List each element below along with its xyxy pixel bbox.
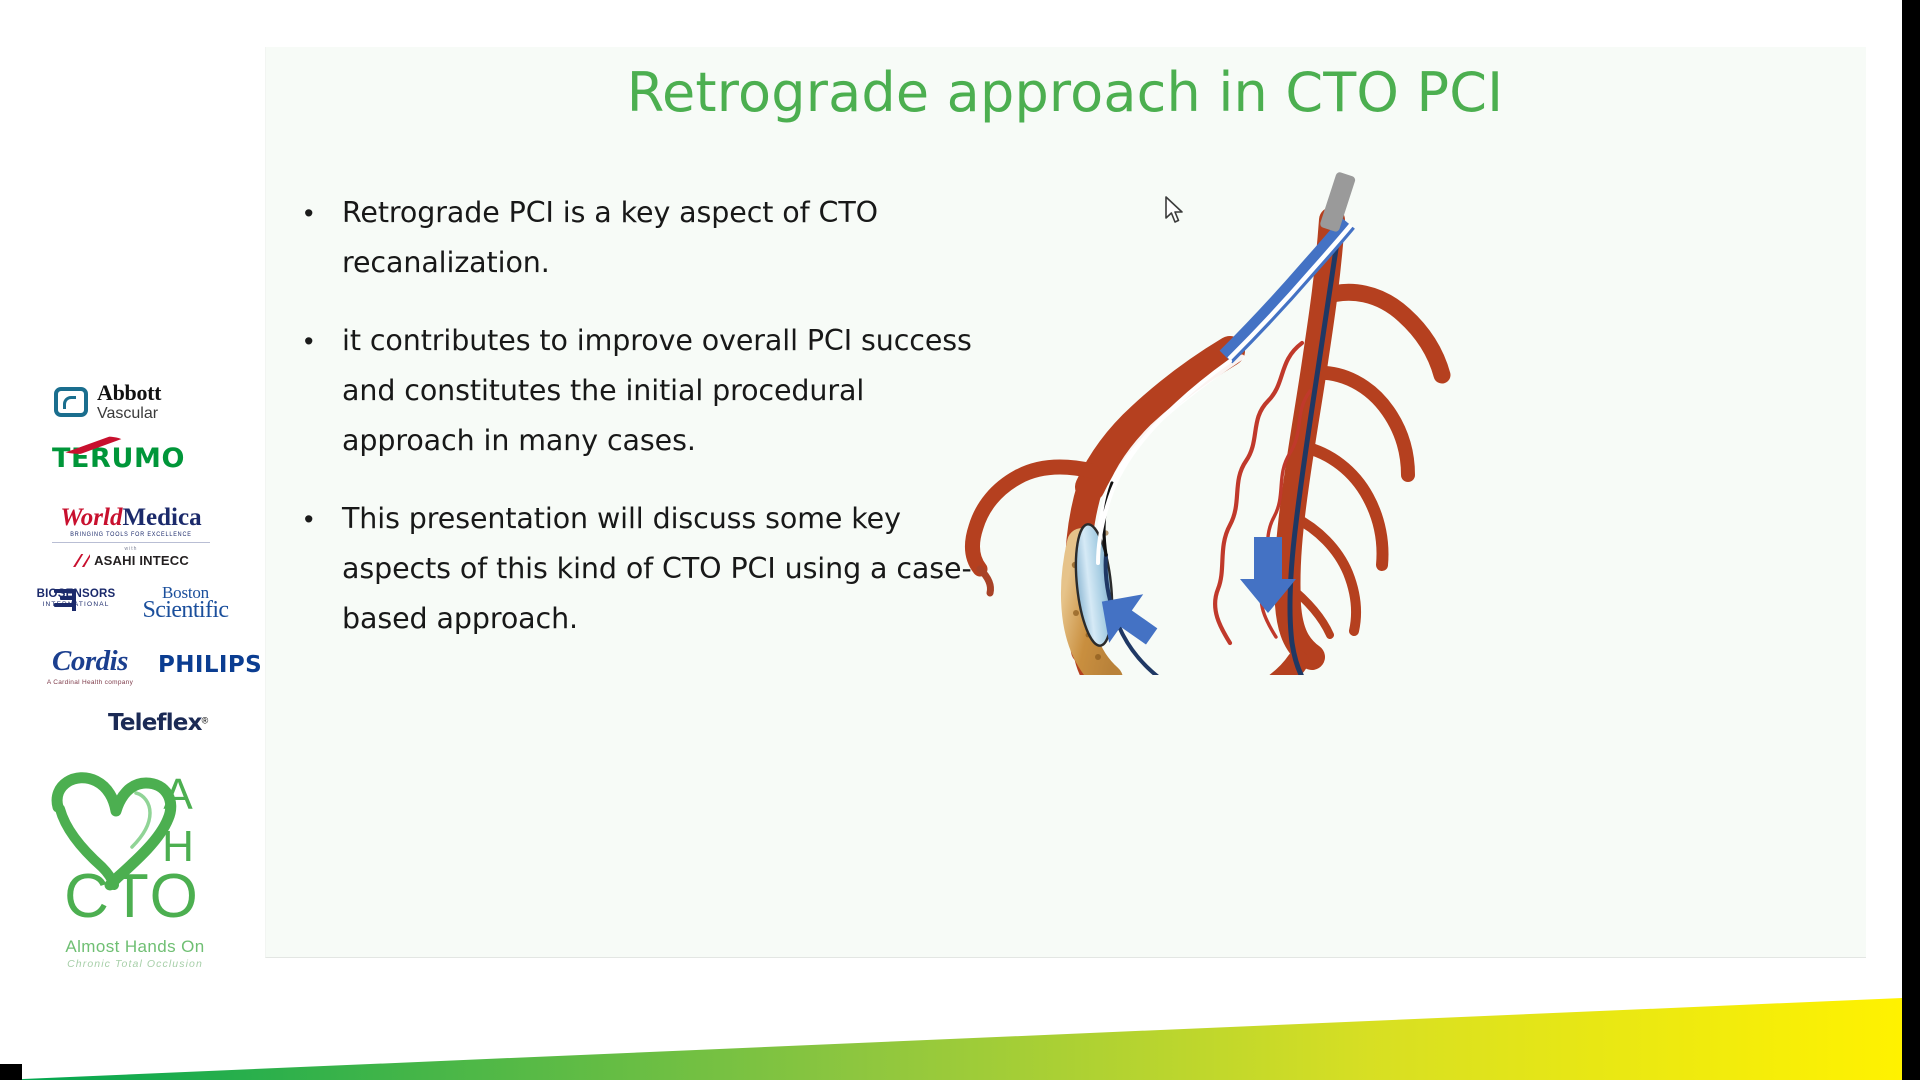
sponsor-logo-philips: PHILIPS bbox=[158, 652, 262, 678]
sponsor-logo-terumo: TERUMO bbox=[52, 443, 185, 474]
plaque-speckle bbox=[1095, 654, 1101, 660]
biosensors-name: BIOSENSORS bbox=[30, 588, 122, 600]
bullet-text: This presentation will discuss some key … bbox=[342, 494, 1000, 644]
worldmedica-tagline: BRINGING TOOLS FOR EXCELLENCE bbox=[46, 532, 216, 539]
sponsor-logo-cordis: Cordis A Cardinal Health company bbox=[36, 645, 144, 686]
presentation-window: Retrograde approach in CTO PCI • Retrogr… bbox=[0, 0, 1920, 1080]
window-bottom-left-edge bbox=[0, 1064, 22, 1080]
teleflex-registered-mark: ® bbox=[202, 716, 209, 726]
teleflex-wordmark: Teleflex bbox=[108, 710, 202, 736]
sponsor-logo-biosensors: BIOSENSORS INTERNATIONAL bbox=[30, 588, 122, 608]
cordis-tagline: A Cardinal Health company bbox=[36, 679, 144, 686]
ahcto-tagline-primary: Almost Hands On bbox=[40, 937, 230, 957]
sponsor-logo-boston-scientific: Boston Scientific bbox=[128, 585, 243, 622]
target-side-branch-tip bbox=[980, 569, 991, 593]
bullet-item: • it contributes to improve overall PCI … bbox=[300, 316, 1000, 466]
biosensors-subtitle: INTERNATIONAL bbox=[30, 601, 122, 608]
sponsor-logo-rail: Abbott Vascular TERUMO WorldMedica BRING… bbox=[0, 0, 262, 1080]
abbott-name: Abbott bbox=[97, 382, 161, 404]
slide-canvas[interactable]: Retrograde approach in CTO PCI • Retrogr… bbox=[0, 0, 1902, 1080]
worldmedica-part2: Medica bbox=[122, 504, 201, 531]
asahi-arrows-icon bbox=[73, 554, 90, 567]
asahi-intecc-logo: ASAHI INTECC bbox=[46, 553, 216, 568]
donor-branch-3 bbox=[1304, 447, 1382, 565]
worldmedica-part1: World bbox=[60, 504, 122, 531]
window-right-edge bbox=[1902, 0, 1920, 1080]
worldmedica-with-label: with bbox=[46, 546, 216, 552]
retrograde-arrow-up bbox=[1102, 593, 1160, 651]
cordis-wordmark: Cordis bbox=[36, 645, 144, 678]
sponsor-logo-worldmedica: WorldMedica BRINGING TOOLS FOR EXCELLENC… bbox=[46, 505, 216, 568]
philips-wordmark: PHILIPS bbox=[158, 652, 262, 678]
sponsor-logo-abbott: Abbott Vascular bbox=[54, 382, 161, 422]
bullet-marker-icon: • bbox=[300, 188, 342, 238]
divider bbox=[52, 542, 210, 543]
bullet-item: • This presentation will discuss some ke… bbox=[300, 494, 1000, 644]
bullet-marker-icon: • bbox=[300, 494, 342, 544]
donor-branch-4 bbox=[1294, 517, 1356, 631]
abbott-subtitle: Vascular bbox=[97, 406, 161, 422]
ahcto-tagline-secondary: Chronic Total Occlusion bbox=[40, 958, 230, 970]
donor-branch-1 bbox=[1323, 292, 1442, 375]
bullet-item: • Retrograde PCI is a key aspect of CTO … bbox=[300, 188, 1000, 288]
ahcto-acronym: CTO bbox=[64, 862, 200, 931]
mouse-cursor-icon bbox=[1164, 196, 1186, 226]
abbott-a-mark-icon bbox=[54, 387, 88, 417]
slide-title: Retrograde approach in CTO PCI bbox=[265, 62, 1865, 124]
asahi-wordmark: ASAHI INTECC bbox=[94, 553, 189, 568]
introducer-sheath bbox=[1319, 171, 1356, 232]
abbott-wordmark: Abbott Vascular bbox=[97, 382, 161, 422]
sponsor-logo-teleflex: Teleflex® bbox=[108, 710, 208, 736]
ahcto-letter-a: A bbox=[163, 770, 193, 819]
bullet-marker-icon: • bbox=[300, 316, 342, 366]
bullet-list: • Retrograde PCI is a key aspect of CTO … bbox=[300, 188, 1000, 672]
retrograde-cto-pci-diagram bbox=[930, 165, 1510, 675]
boston-scientific-line2: Scientific bbox=[128, 600, 243, 622]
terumo-wordmark: TERUMO bbox=[52, 443, 185, 474]
plaque-speckle bbox=[1073, 610, 1079, 616]
corner-wedge-decoration bbox=[0, 960, 1902, 1080]
bullet-text: Retrograde PCI is a key aspect of CTO re… bbox=[342, 188, 1000, 288]
worldmedica-wordmark: WorldMedica bbox=[46, 505, 216, 530]
event-logo-ahcto: A H CTO Almost Hands On Chronic Total Oc… bbox=[40, 765, 230, 970]
bullet-text: it contributes to improve overall PCI su… bbox=[342, 316, 1000, 466]
